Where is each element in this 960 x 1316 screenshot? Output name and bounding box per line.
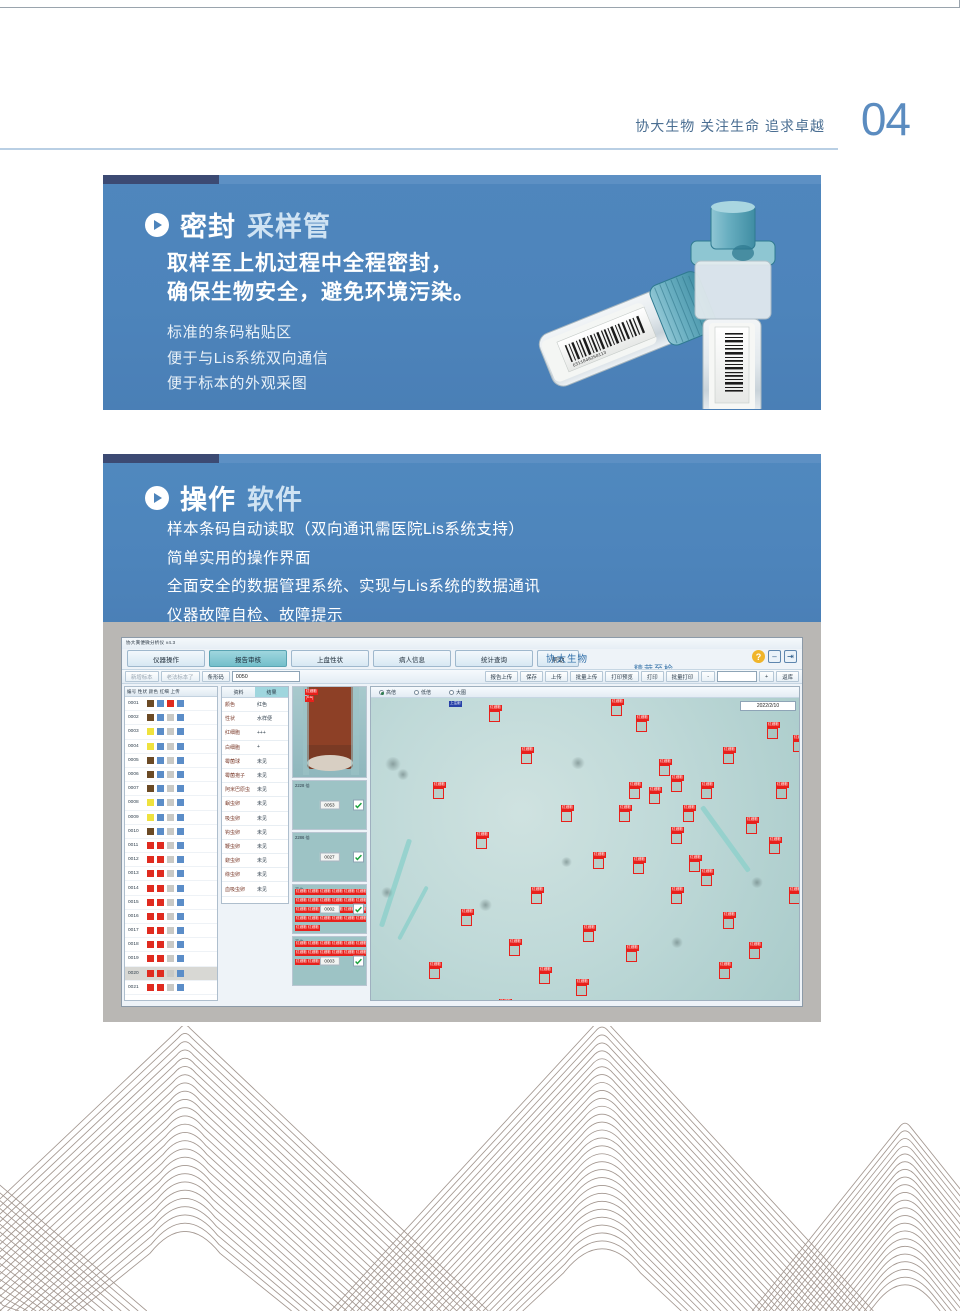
result-row: 白细胞+ <box>222 741 288 755</box>
detection-label: 红细胞 <box>593 852 606 858</box>
status-swatch <box>157 743 164 750</box>
detection-box <box>476 838 487 849</box>
status-swatch <box>177 814 184 821</box>
table-row[interactable]: 0010 <box>125 825 217 839</box>
mountain-contour-line <box>0 1050 465 1311</box>
toolbar-old-sample-button[interactable]: 老法标本了 <box>161 671 200 682</box>
result-key: 性状 <box>222 715 257 722</box>
detection-label: 红细胞 <box>701 782 714 788</box>
page-header: 协大生物 关注生命 追求卓越 04 <box>0 108 960 150</box>
thumbnail-detected-1[interactable]: 高倍 0002 红细胞红细胞红细胞红细胞红细胞红细胞红细胞红细胞红细胞红细胞红细… <box>292 884 367 934</box>
thumbnail-check-icon[interactable] <box>353 956 364 967</box>
toolbar-batch-upload-button[interactable]: 批量上传 <box>570 671 604 682</box>
panel1-big-line-2: 确保生物安全，避免环境污染。 <box>167 279 475 308</box>
detection-box <box>636 721 647 732</box>
status-swatch <box>157 913 164 920</box>
status-swatch <box>177 799 184 806</box>
detection-label: 红细胞 <box>433 782 446 788</box>
detection-box <box>521 753 532 764</box>
detection-label: 红细胞 <box>561 805 574 811</box>
sample-id: 0018 <box>128 942 144 947</box>
status-swatch <box>157 700 164 707</box>
mountain-contour-line <box>859 1269 952 1311</box>
status-swatch <box>147 941 154 948</box>
panel2-lines: 样本条码自动读取（双向通讯需医院Lis系统支持） 简单实用的操作界面 全面安全的… <box>167 516 540 631</box>
detection-box <box>683 811 694 822</box>
detection-label: 红细胞 <box>723 912 736 918</box>
minimize-icon[interactable]: – <box>768 650 781 663</box>
result-value: 未见 <box>257 829 267 836</box>
sample-list-header: 编号 性状 颜色 红细 上传 <box>125 687 217 697</box>
sample-id: 0015 <box>128 900 144 905</box>
page-number: 04 <box>861 96 910 142</box>
result-row: 霉菌孢子未见 <box>222 769 288 783</box>
detection-label: 红细胞 <box>307 907 320 913</box>
result-value: 未见 <box>257 800 267 807</box>
detection-label: 红细胞 <box>331 950 344 956</box>
detection-box <box>719 968 730 979</box>
detection-box <box>689 861 700 872</box>
radio-label: 低倍 <box>421 689 431 696</box>
result-row: 钩虫卵未见 <box>222 826 288 840</box>
table-row[interactable]: 0014 <box>125 881 217 895</box>
mountain-contour-line <box>370 1067 833 1311</box>
status-swatch <box>167 984 174 991</box>
detection-label: 红细胞 <box>295 907 308 913</box>
detection-label: 红细胞 <box>723 747 736 753</box>
detection-label: 红细胞 <box>331 889 344 895</box>
sample-id: 0004 <box>128 744 144 749</box>
status-swatch <box>147 870 154 877</box>
mountain-contour-line <box>423 1130 780 1311</box>
toolbar-report-upload-button[interactable]: 报告上传 <box>485 671 519 682</box>
table-row[interactable]: 0006 <box>125 768 217 782</box>
detection-label: 红细胞 <box>331 941 344 947</box>
radio-label: 高倍 <box>386 689 396 696</box>
detection-label: 红细胞 <box>461 909 474 915</box>
result-row: 绦虫卵未见 <box>222 868 288 882</box>
table-row[interactable]: 0017 <box>125 924 217 938</box>
detection-label: 红细胞 <box>746 817 759 823</box>
microscope-image-view[interactable]: 高倍 低倍 大图 2022/2/10 <box>370 686 800 1001</box>
mountain-contour-line <box>831 1231 960 1311</box>
table-row[interactable]: 0016 <box>125 910 217 924</box>
mountain-contour-line <box>523 1249 682 1311</box>
detection-box <box>619 811 630 822</box>
detection-label: 红细胞 <box>319 898 332 904</box>
panel-sealed-sampling-tube: 密封 采样管 取样至上机过程中全程密封， 确保生物安全，避免环境污染。 标准的条… <box>103 175 821 410</box>
thumbnail-detected-2[interactable]: 高倍 0003 红细胞红细胞红细胞红细胞红细胞红细胞红细胞红细胞红细胞红细胞红细… <box>292 936 367 986</box>
status-swatch <box>177 757 184 764</box>
detection-label: 红细胞 <box>749 942 762 948</box>
detection-box <box>561 811 572 822</box>
status-swatch <box>157 771 164 778</box>
detection-label: 红细胞 <box>626 945 639 951</box>
status-swatch <box>157 870 164 877</box>
table-row[interactable]: 0007 <box>125 782 217 796</box>
status-swatch <box>177 927 184 934</box>
result-key: 蛲虫卵 <box>222 857 257 864</box>
result-value: 未见 <box>257 871 267 878</box>
result-value: 未见 <box>257 815 267 822</box>
detection-box <box>749 948 760 959</box>
status-swatch <box>147 743 154 750</box>
mountain-contour-line <box>23 1174 346 1311</box>
mountain-contour-line <box>351 1043 854 1311</box>
tab-patient-info[interactable]: 病人信息 <box>373 650 451 667</box>
status-swatch <box>177 828 184 835</box>
play-triangle-icon <box>145 213 169 237</box>
thumbnail-field-2[interactable]: 2286 倍 0027 <box>292 832 367 882</box>
detection-label: 红细胞 <box>776 782 789 788</box>
top-frame-rule <box>0 0 960 8</box>
status-swatch <box>147 714 154 721</box>
status-swatch <box>177 899 184 906</box>
thumbnail-id: 0002 <box>319 905 339 914</box>
detection-label: 红细胞 <box>295 889 308 895</box>
detection-label: 红细胞 <box>583 925 596 931</box>
header-divider <box>0 148 838 150</box>
tab-statistics-query[interactable]: 统计查询 <box>455 650 533 667</box>
barcode-input[interactable]: 0050 <box>232 671 300 682</box>
detection-box <box>593 858 604 869</box>
table-row[interactable]: 0018 <box>125 938 217 952</box>
fiber-artifact <box>700 805 751 873</box>
toolbar-batch-print-button[interactable]: 批量打印 <box>666 671 700 682</box>
status-swatch <box>147 885 154 892</box>
detection-label: 红细胞 <box>619 805 632 811</box>
panel-operating-software: 操作 软件 样本条码自动读取（双向通讯需医院Lis系统支持） 简单实用的操作界面… <box>103 454 821 632</box>
panel-topbar-dark <box>103 175 219 184</box>
detection-label: 红细胞 <box>343 941 356 947</box>
detection-box <box>576 985 587 996</box>
thumbnail-tube-image[interactable]: 红细胞 产气 <box>292 686 367 778</box>
status-swatch <box>167 885 174 892</box>
detection-label: 红细胞 <box>499 999 512 1001</box>
panel2-title-light: 软件 <box>247 478 303 517</box>
panel2-line-1: 样本条码自动读取（双向通讯需医院Lis系统支持） <box>167 516 540 545</box>
detection-box <box>611 705 622 716</box>
table-row[interactable]: 0012 <box>125 853 217 867</box>
help-icon[interactable]: ? <box>752 650 765 663</box>
return-button[interactable]: 返库 <box>776 671 799 682</box>
table-row[interactable]: 0020 <box>125 967 217 981</box>
result-key: 霉菌球 <box>222 758 257 765</box>
detection-box <box>509 945 520 956</box>
detection-label: 红细胞 <box>719 962 732 968</box>
mountain-contour-line <box>0 1026 488 1311</box>
status-swatch <box>157 757 164 764</box>
sample-list-rows: 0001000200030004000500060007000800090010… <box>125 697 217 995</box>
page-next-button[interactable]: + <box>759 671 774 682</box>
result-key: 钩虫卵 <box>222 829 257 836</box>
status-swatch <box>167 757 174 764</box>
status-swatch <box>167 970 174 977</box>
status-swatch <box>167 743 174 750</box>
detection-label: 红细胞 <box>307 950 320 956</box>
panel1-small-line-1: 标准的条码粘贴区 <box>167 320 328 346</box>
thumbnail-check-icon[interactable] <box>353 852 364 863</box>
detection-box <box>633 863 644 874</box>
status-swatch <box>167 728 174 735</box>
detection-label: 红细胞 <box>355 916 367 922</box>
mountain-contour-line <box>0 1099 418 1311</box>
application-window: 协大粪便微分析仪 v4.3 仪器操作 报告审核 上盘性状 病人信息 统计查询 帮… <box>121 637 803 1007</box>
date-field[interactable]: 2022/2/10 <box>740 701 796 711</box>
detection-label: 红细胞 <box>649 787 662 793</box>
mountain-contour-line <box>803 1192 960 1311</box>
status-swatch <box>147 771 154 778</box>
sample-id: 0006 <box>128 772 144 777</box>
sample-id: 0017 <box>128 928 144 933</box>
result-value: 未见 <box>257 772 267 779</box>
status-swatch <box>177 885 184 892</box>
page-prev-button[interactable]: - <box>701 671 715 682</box>
table-row[interactable]: 0011 <box>125 839 217 853</box>
result-key: 吸虫卵 <box>222 815 257 822</box>
exit-icon[interactable]: ⇥ <box>784 650 797 663</box>
status-swatch <box>177 856 184 863</box>
detection-label: 红细胞 <box>319 950 332 956</box>
status-swatch <box>157 927 164 934</box>
result-row: 性状水样便 <box>222 712 288 726</box>
panel1-title-light: 采样管 <box>247 205 331 244</box>
status-swatch <box>147 828 154 835</box>
sample-id: 0009 <box>128 815 144 820</box>
radio-label: 大图 <box>456 689 466 696</box>
mountain-contour-line <box>490 1209 715 1311</box>
mountain-contour-line <box>410 1114 794 1311</box>
table-row[interactable]: 0002 <box>125 711 217 725</box>
status-swatch <box>157 955 164 962</box>
sample-id: 0012 <box>128 857 144 862</box>
table-row[interactable]: 0015 <box>125 896 217 910</box>
debris-blob <box>397 769 409 780</box>
result-value: + <box>257 744 260 750</box>
detection-box <box>746 823 757 834</box>
status-swatch <box>167 771 174 778</box>
sample-id: 0001 <box>128 701 144 706</box>
brochure-page: 协大生物 关注生命 追求卓越 04 密封 采样管 取样至上机过程中全程密封， 确… <box>0 0 960 1311</box>
detection-label: 红细胞 <box>531 887 544 893</box>
result-key: 霉菌孢子 <box>222 772 257 779</box>
status-swatch <box>167 870 174 877</box>
status-swatch <box>177 714 184 721</box>
result-row: 红细胞+++ <box>222 726 288 740</box>
toolbar-upload-button[interactable]: 上传 <box>545 671 568 682</box>
detection-box <box>671 893 682 904</box>
debris-blob <box>479 899 492 911</box>
result-row: 颜色红色 <box>222 698 288 712</box>
table-row[interactable]: 0021 <box>125 981 217 995</box>
status-swatch <box>157 814 164 821</box>
thumbnail-check-icon[interactable] <box>353 904 364 915</box>
result-key: 鞭虫卵 <box>222 843 257 850</box>
tab-report-review[interactable]: 报告审核 <box>209 650 287 667</box>
detection-label-selected: 上注射 <box>449 701 462 707</box>
panel-topbar-light <box>219 454 821 463</box>
window-controls: ? – ⇥ <box>752 650 797 663</box>
thumbnail-field-1[interactable]: 2228 倍 0053 <box>292 780 367 830</box>
fiber-artifact <box>397 886 429 941</box>
result-value: 未见 <box>257 886 267 893</box>
table-row[interactable]: 0003 <box>125 725 217 739</box>
status-swatch <box>157 941 164 948</box>
panel1-small-lines: 标准的条码粘贴区 便于与Lis系统双向通信 便于标本的外观采图 <box>167 320 328 397</box>
status-swatch <box>167 714 174 721</box>
result-row: 吸虫卵未见 <box>222 812 288 826</box>
result-value: 未见 <box>257 758 267 765</box>
detection-label: 红细胞 <box>307 925 320 931</box>
result-value: +++ <box>257 730 266 736</box>
status-swatch <box>147 799 154 806</box>
detection-box <box>789 893 800 904</box>
radio-high-power[interactable]: 高倍 <box>379 689 396 696</box>
status-swatch <box>177 984 184 991</box>
detection-label: 红细胞 <box>489 705 502 711</box>
status-swatch <box>147 842 154 849</box>
thumbnail-label: 2286 倍 <box>295 835 310 841</box>
detection-label: 红细胞 <box>319 916 332 922</box>
software-screenshot: 协大粪便微分析仪 v4.3 仪器操作 报告审核 上盘性状 病人信息 统计查询 帮… <box>103 622 821 1022</box>
detection-box <box>461 915 472 926</box>
sample-id: 0008 <box>128 800 144 805</box>
table-row[interactable]: 0005 <box>125 754 217 768</box>
detection-label: 红细胞 <box>509 939 522 945</box>
sample-id: 0011 <box>128 843 144 848</box>
status-swatch <box>157 728 164 735</box>
table-row[interactable]: 0009 <box>125 811 217 825</box>
detection-label: 红细胞 <box>429 962 442 968</box>
detection-label: 红细胞 <box>539 967 552 973</box>
detection-label: 红细胞 <box>633 857 646 863</box>
tab-tray-status[interactable]: 上盘性状 <box>291 650 369 667</box>
status-swatch <box>157 885 164 892</box>
detection-label: 红细胞 <box>671 827 684 833</box>
detection-box <box>429 968 440 979</box>
detection-box <box>539 973 550 984</box>
result-key: 蛔虫卵 <box>222 800 257 807</box>
status-swatch <box>177 941 184 948</box>
detection-box <box>629 788 640 799</box>
result-key: 红细胞 <box>222 729 257 736</box>
result-value: 未见 <box>257 786 267 793</box>
mountain-contour-line <box>0 1042 473 1311</box>
status-swatch <box>147 984 154 991</box>
debris-blob <box>671 937 683 948</box>
tab-sample-data[interactable]: 资料 <box>222 687 255 697</box>
status-swatch <box>147 856 154 863</box>
status-swatch <box>157 799 164 806</box>
tab-bar: 仪器操作 报告审核 上盘性状 病人信息 统计查询 帮助 <box>127 650 579 667</box>
mountain-contour-line <box>0 1058 457 1311</box>
status-swatch <box>147 814 154 821</box>
table-row[interactable]: 0004 <box>125 740 217 754</box>
status-swatch <box>177 870 184 877</box>
result-properties-panel: 资料 结果 颜色红色性状水样便红细胞+++白细胞+霉菌球未见霉菌孢子未见阿米巴原… <box>221 686 289 904</box>
detection-label: 红细胞 <box>319 889 332 895</box>
status-swatch <box>177 700 184 707</box>
table-row[interactable]: 0013 <box>125 867 217 881</box>
detection-label: 红细胞 <box>636 715 649 721</box>
result-row: 血吸虫卵未见 <box>222 882 288 896</box>
status-swatch <box>147 899 154 906</box>
table-row[interactable]: 0008 <box>125 796 217 810</box>
detection-label: 红细胞 <box>319 941 332 947</box>
detection-label: 红细胞 <box>295 925 308 931</box>
sample-list-grid[interactable]: 编号 性状 颜色 红细 上传 0001000200030004000500060… <box>124 686 218 1001</box>
status-swatch <box>157 970 164 977</box>
detection-label: 红细胞 <box>307 959 320 965</box>
detection-box <box>531 893 542 904</box>
mountain-contour-line <box>463 1178 741 1311</box>
result-value: 红色 <box>257 701 267 708</box>
radio-dot-icon <box>449 690 454 695</box>
panel2-line-3: 全面安全的数据管理系统、实现与Lis系统的数据通讯 <box>167 573 540 602</box>
tab-results[interactable]: 结果 <box>255 687 288 697</box>
result-key: 血吸虫卵 <box>222 886 257 893</box>
status-swatch <box>177 771 184 778</box>
panel-topbar-dark <box>103 454 219 463</box>
detection-box <box>767 728 778 739</box>
sample-id: 0021 <box>128 985 144 990</box>
tab-instrument-operation[interactable]: 仪器操作 <box>127 650 205 667</box>
detection-label: 红细胞 <box>307 916 320 922</box>
window-title: 协大粪便微分析仪 v4.3 <box>126 640 175 646</box>
table-row[interactable]: 0019 <box>125 952 217 966</box>
sample-id: 0013 <box>128 871 144 876</box>
detection-box <box>671 833 682 844</box>
header-tagline: 协大生物 关注生命 追求卓越 <box>635 116 825 136</box>
status-swatch <box>157 856 164 863</box>
status-swatch <box>157 828 164 835</box>
mountain-contour-line <box>357 1051 847 1311</box>
mountain-contour-line <box>797 1185 960 1311</box>
toolbar-save-button[interactable]: 保存 <box>520 671 543 682</box>
status-swatch <box>177 743 184 750</box>
detection-box <box>769 843 780 854</box>
toolbar-barcode-button[interactable]: 条形码 <box>202 671 230 682</box>
detection-box <box>626 951 637 962</box>
toolbar-new-sample-button[interactable]: 新增标本 <box>125 671 159 682</box>
status-swatch <box>167 814 174 821</box>
radio-large-image[interactable]: 大图 <box>449 689 466 696</box>
radio-dot-icon <box>379 690 384 695</box>
play-triangle-icon <box>145 486 169 510</box>
detection-label: 红细胞 <box>307 898 320 904</box>
status-swatch <box>167 955 174 962</box>
detection-box <box>583 931 594 942</box>
detection-label: 红细胞 <box>307 889 320 895</box>
status-swatch <box>167 856 174 863</box>
toolbar-print-button[interactable]: 打印 <box>641 671 664 682</box>
page-number-input[interactable] <box>717 671 757 682</box>
status-swatch <box>177 728 184 735</box>
thumbnail-check-icon[interactable] <box>353 800 364 811</box>
thumbnail-strip[interactable]: 红细胞 产气 2228 倍 0053 2286 倍 0027 <box>292 686 367 1001</box>
sample-id: 0005 <box>128 758 144 763</box>
table-row[interactable]: 0001 <box>125 697 217 711</box>
detection-label: 红细胞 <box>331 898 344 904</box>
detection-box <box>649 793 660 804</box>
detection-box <box>723 753 734 764</box>
radio-low-power[interactable]: 低倍 <box>414 689 431 696</box>
toolbar-print-preview-button[interactable]: 打印预览 <box>605 671 639 682</box>
detection-box <box>723 918 734 929</box>
thumbnail-id: 0053 <box>319 801 339 810</box>
detection-label: 红细胞 <box>629 782 642 788</box>
detection-label: 红细胞 <box>611 699 624 705</box>
